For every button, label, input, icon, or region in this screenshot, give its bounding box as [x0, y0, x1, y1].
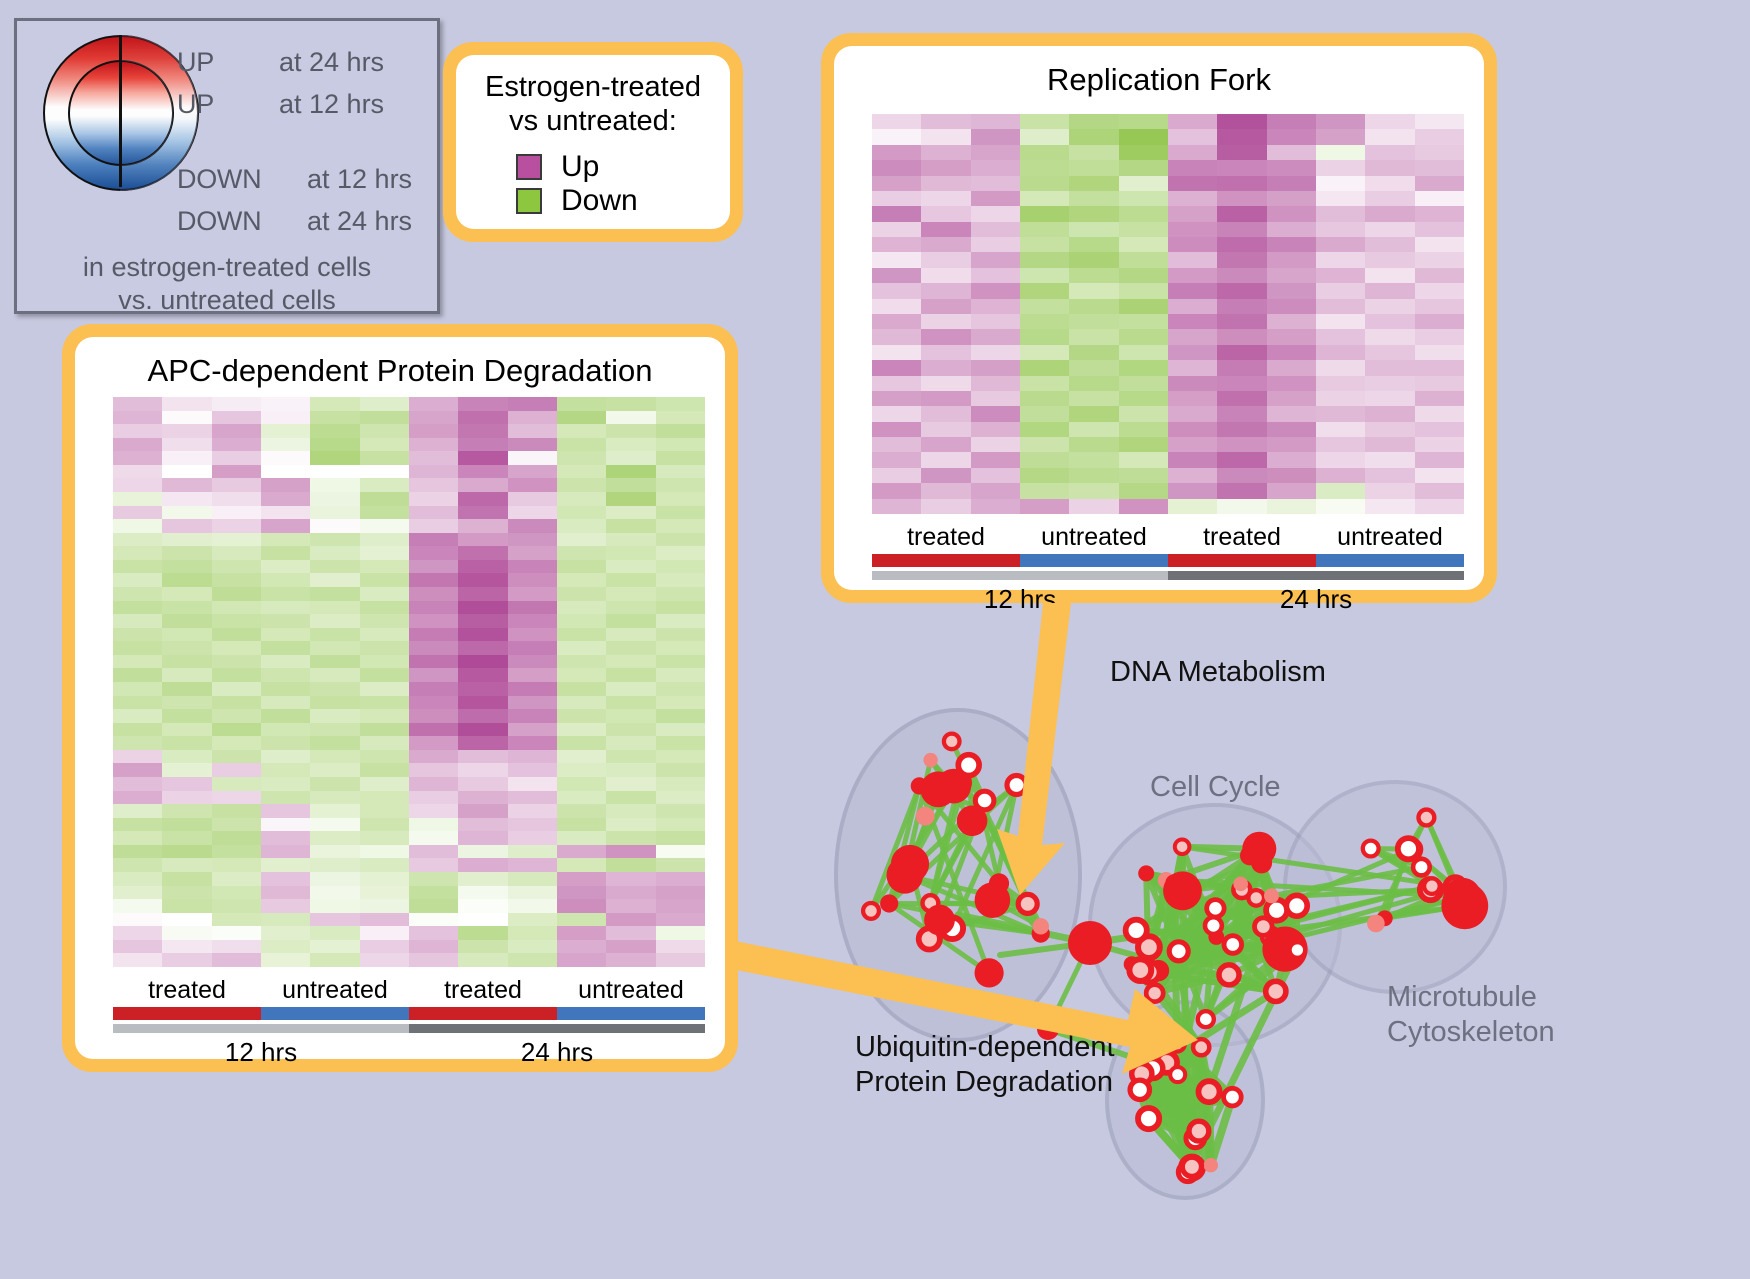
key-item-up: Up — [516, 152, 638, 182]
apc-group-label-1: untreated — [261, 977, 409, 1005]
cluster-label-dna-metabolism: DNA Metabolism — [1110, 655, 1326, 689]
colorwheel-legend-box: UP at 24 hrs UP at 12 hrs DOWN at 12 hrs… — [14, 18, 440, 314]
replication-fork-inner: Replication Fork treated untreated treat… — [834, 46, 1484, 590]
replication-fork-title: Replication Fork — [834, 62, 1484, 98]
key-title-line-1: Estrogen-treated — [456, 71, 730, 105]
wheel-time-down-12: at 12 hrs — [307, 166, 412, 193]
replication-fork-heatmap — [872, 114, 1464, 514]
apc-treatment-bar — [113, 1007, 705, 1020]
apc-time-label-12: 12 hrs — [113, 1037, 409, 1068]
rf-time-bar — [872, 571, 1464, 580]
wheel-center-divider — [119, 35, 122, 187]
apc-degradation-panel: APC-dependent Protein Degradation treate… — [62, 324, 738, 1072]
key-item-down: Down — [516, 186, 638, 216]
apc-time-bar — [113, 1024, 705, 1033]
rf-group-label-2: treated — [1168, 524, 1316, 552]
rf-group-label-0: treated — [872, 524, 1020, 552]
rf-group-label-3: untreated — [1316, 524, 1464, 552]
wheel-time-down-24: at 24 hrs — [307, 208, 412, 235]
apc-degradation-inner: APC-dependent Protein Degradation treate… — [75, 337, 725, 1059]
wheel-label-up-12: UP — [177, 91, 214, 118]
apc-group-label-0: treated — [113, 977, 261, 1005]
wheel-time-up-12: at 12 hrs — [279, 91, 384, 118]
apc-group-labels: treated untreated treated untreated — [113, 977, 705, 1005]
key-legend-panel: Estrogen-treated vs untreated: Up Down — [443, 42, 743, 242]
apc-group-label-3: untreated — [557, 977, 705, 1005]
apc-degradation-title: APC-dependent Protein Degradation — [75, 353, 725, 389]
wheel-time-up-24: at 24 hrs — [279, 49, 384, 76]
apc-degradation-heatmap — [113, 397, 705, 967]
replication-fork-panel: Replication Fork treated untreated treat… — [821, 33, 1497, 603]
cluster-label-cell-cycle: Cell Cycle — [1150, 770, 1281, 804]
apc-degradation-axis: treated untreated treated untreated 12 h… — [113, 977, 705, 1068]
key-legend-items: Up Down — [516, 152, 638, 220]
key-label-up: Up — [561, 152, 599, 182]
key-legend-title: Estrogen-treated vs untreated: — [456, 71, 730, 138]
key-label-down: Down — [561, 186, 638, 216]
network-svg — [790, 625, 1550, 1279]
key-legend-inner: Estrogen-treated vs untreated: Up Down — [456, 55, 730, 229]
rf-treatment-bar — [872, 554, 1464, 567]
rf-time-labels: 12 hrs 24 hrs — [872, 584, 1464, 615]
apc-time-labels: 12 hrs 24 hrs — [113, 1037, 705, 1068]
cluster-label-ubiquitin: Ubiquitin-dependentProtein Degradation — [855, 1030, 1135, 1100]
apc-group-label-2: treated — [409, 977, 557, 1005]
caption-line-1: in estrogen-treated cells — [17, 251, 437, 284]
cluster-label-microtubule: MicrotubuleCytoskeleton — [1387, 980, 1547, 1050]
wheel-label-down-24: DOWN — [177, 208, 261, 235]
colorwheel-caption: in estrogen-treated cells vs. untreated … — [17, 251, 437, 317]
apc-time-label-24: 24 hrs — [409, 1037, 705, 1068]
rf-time-label-24: 24 hrs — [1168, 584, 1464, 615]
swatch-up-icon — [516, 154, 542, 180]
key-title-line-2: vs untreated: — [456, 105, 730, 139]
rf-group-label-1: untreated — [1020, 524, 1168, 552]
wheel-label-up-24: UP — [177, 49, 214, 76]
rf-time-label-12: 12 hrs — [872, 584, 1168, 615]
swatch-down-icon — [516, 188, 542, 214]
pathway-network-graph: DNA Metabolism Cell Cycle MicrotubuleCyt… — [790, 625, 1550, 1279]
caption-line-2: vs. untreated cells — [17, 284, 437, 317]
replication-fork-axis: treated untreated treated untreated 12 h… — [872, 524, 1464, 615]
rf-group-labels: treated untreated treated untreated — [872, 524, 1464, 552]
wheel-label-down-12: DOWN — [177, 166, 261, 193]
